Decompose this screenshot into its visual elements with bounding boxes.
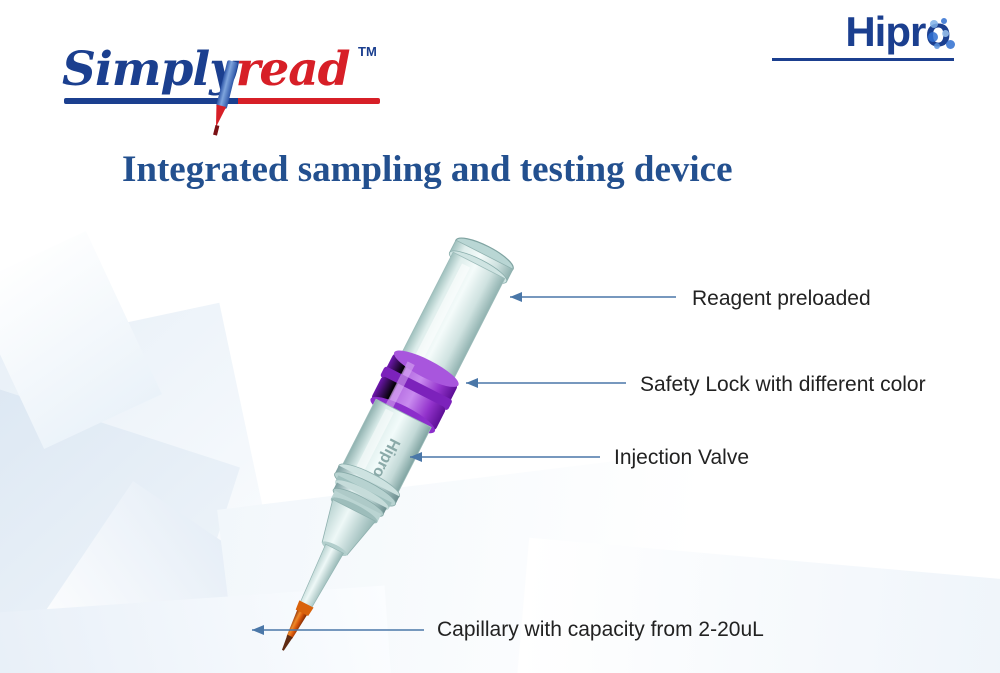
callout-capillary: Capillary with capacity from 2-20uL (437, 618, 764, 642)
arrow-head-reagent (510, 292, 522, 302)
callout-safety-lock: Safety Lock with different color (640, 373, 926, 397)
arrow-head-injection-valve (410, 452, 422, 462)
callout-injection-valve: Injection Valve (614, 446, 749, 470)
slide: Simplyread TM Hipro Integrated sampling … (0, 0, 1000, 673)
callout-reagent: Reagent preloaded (692, 287, 871, 311)
arrow-head-capillary (252, 625, 264, 635)
arrow-head-safety-lock (466, 378, 478, 388)
leader-lines (0, 0, 1000, 673)
